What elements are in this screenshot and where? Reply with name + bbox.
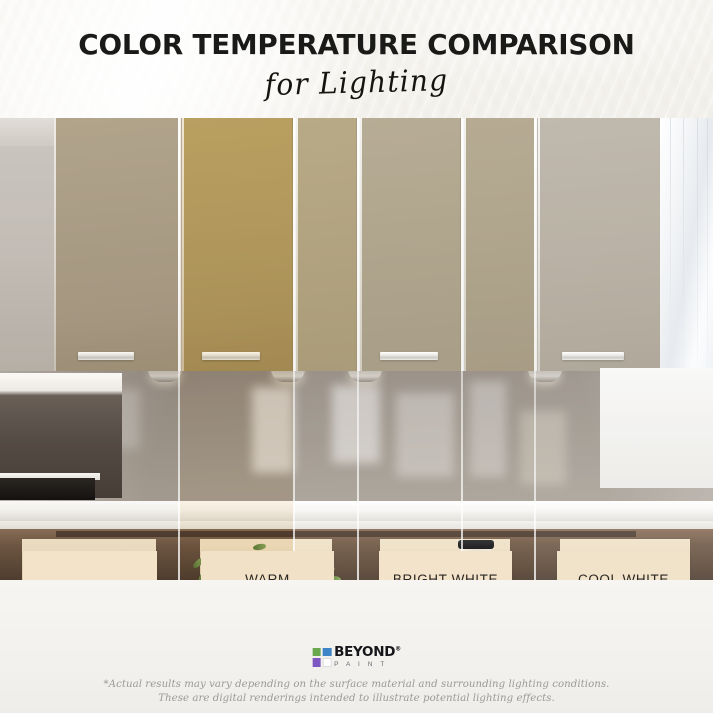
- blender-lid: [458, 540, 494, 549]
- upper-cabinet-row: [0, 118, 713, 371]
- cabinet-seam: [461, 118, 464, 371]
- logo-tiles-icon: [312, 648, 331, 667]
- beyond-paint-logo[interactable]: BEYOND® P A I N T: [312, 646, 401, 668]
- cabinet-panel-bright-a: [296, 118, 358, 371]
- logo-tile-purple: [312, 658, 321, 667]
- panel-edge-left: [538, 118, 540, 371]
- cabinet-seam: [178, 118, 181, 371]
- panel-edge-left: [182, 118, 184, 371]
- curtain-fold: [670, 118, 671, 371]
- cabinet-panel-neutral: [464, 118, 536, 371]
- curtain-fold: [707, 118, 708, 371]
- reflection-doorway: [396, 393, 454, 477]
- panel-face: [464, 118, 536, 371]
- panel-edge-left: [360, 118, 362, 371]
- kitchen-photo: [0, 118, 713, 580]
- disclaimer-line-1: *Actual results may vary depending on th…: [0, 679, 713, 690]
- reflection-window: [332, 385, 380, 463]
- right-wall-lower: [600, 368, 713, 488]
- infographic-card: COLOR TEMPERATURE COMPARISON for Lightin…: [0, 0, 713, 713]
- page-title: COLOR TEMPERATURE COMPARISON: [0, 29, 713, 61]
- cabinet-panel-warm: [182, 118, 294, 371]
- cabinet-handle: [78, 352, 134, 360]
- logo-tile-blue: [322, 648, 331, 657]
- panel-face: [182, 118, 294, 371]
- panel-edge-left: [296, 118, 298, 371]
- cabinet-handle: [202, 352, 260, 360]
- panel-face: [360, 118, 462, 371]
- window-curtain: [660, 118, 713, 371]
- reflection-room: [470, 381, 506, 477]
- reflection-window: [252, 387, 294, 473]
- reflection-plant: [520, 411, 566, 485]
- registered-mark: ®: [395, 646, 401, 653]
- curtain-fold: [697, 118, 698, 371]
- curtain-fold: [683, 118, 684, 371]
- cabinet-panel-bright-b: [360, 118, 462, 371]
- header-banner: COLOR TEMPERATURE COMPARISON for Lightin…: [0, 0, 713, 118]
- logo-tile-green: [312, 648, 321, 657]
- cabinet-panel-cool: [538, 118, 662, 371]
- logo-brand-text: BEYOND®: [334, 646, 401, 660]
- cabinet-panel-linen: [54, 118, 180, 371]
- cabinet-seam: [293, 118, 296, 371]
- cabinet-handle: [380, 352, 438, 360]
- panel-face: [538, 118, 662, 371]
- drawer-gap: [56, 531, 436, 537]
- panel-face: [54, 118, 180, 371]
- cabinet-seam: [534, 118, 537, 371]
- panel-edge-left: [54, 118, 56, 371]
- logo-tile-white: [322, 658, 331, 667]
- cabinet-handle: [562, 352, 624, 360]
- cooktop: [0, 478, 95, 500]
- disclaimer-line-2: These are digital renderings intended to…: [0, 693, 713, 704]
- panel-edge-left: [464, 118, 466, 371]
- logo-sub-text: P A I N T: [334, 662, 401, 669]
- panel-face: [296, 118, 358, 371]
- cabinet-seam: [357, 118, 360, 371]
- logo-wordmark: BEYOND® P A I N T: [334, 646, 401, 668]
